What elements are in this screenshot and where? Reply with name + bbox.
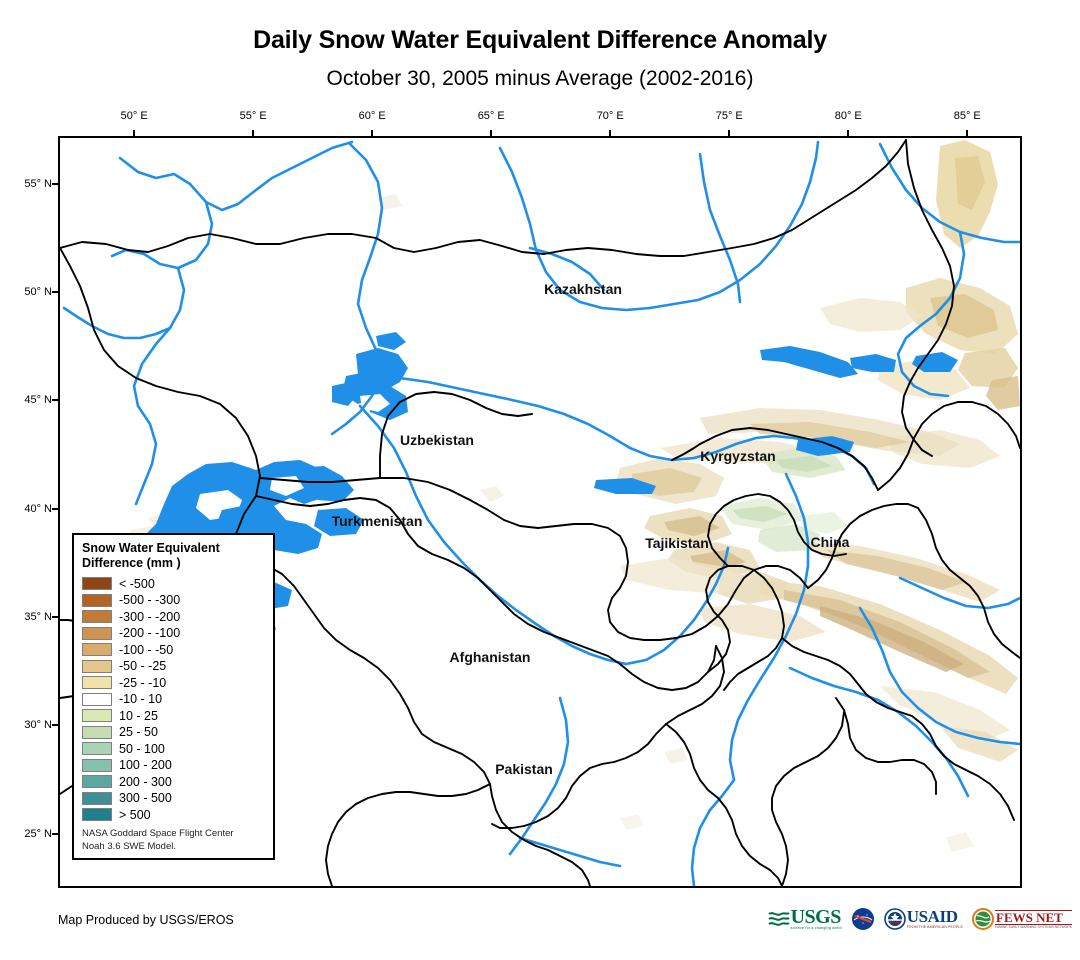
legend-swatch [82, 627, 112, 640]
longitude-label: 50° E [121, 110, 148, 122]
legend-swatch [82, 759, 112, 772]
legend-label: -25 - -10 [119, 676, 166, 690]
legend-row: 25 - 50 [82, 724, 265, 741]
fewsnet-logo[interactable]: FEWS NET FAMINE EARLY WARNING SYSTEMS NE… [972, 907, 1072, 931]
map-credit: Map Produced by USGS/EROS [58, 913, 234, 927]
legend-row: -10 - 10 [82, 691, 265, 708]
page-title: Daily Snow Water Equivalent Difference A… [0, 26, 1080, 55]
latitude-label: 25° N [18, 828, 52, 840]
longitude-tick [728, 130, 730, 136]
legend-label: 25 - 50 [119, 725, 158, 739]
legend-swatch [82, 709, 112, 722]
legend-label: 10 - 25 [119, 709, 158, 723]
legend-swatch [82, 594, 112, 607]
legend-row: -200 - -100 [82, 625, 265, 642]
legend-label: -10 - 10 [119, 692, 162, 706]
agency-logos: USGS science for a changing world USAID … [768, 906, 1072, 932]
fewsnet-globe-icon [972, 908, 994, 930]
legend-swatch [82, 577, 112, 590]
longitude-tick [133, 130, 135, 136]
legend-label: 100 - 200 [119, 758, 172, 772]
usgs-logo[interactable]: USGS science for a changing world [768, 907, 842, 931]
latitude-tick [52, 399, 59, 401]
latitude-tick [52, 616, 59, 618]
usaid-seal-icon [884, 908, 906, 930]
legend-swatch [82, 693, 112, 706]
legend-swatch [82, 775, 112, 788]
legend-swatch [82, 676, 112, 689]
legend-row: 10 - 25 [82, 708, 265, 725]
legend-swatch [82, 660, 112, 673]
latitude-label: 45° N [18, 394, 52, 406]
legend-row: -500 - -300 [82, 592, 265, 609]
latitude-tick [52, 291, 59, 293]
legend-row: -300 - -200 [82, 609, 265, 626]
legend-row: > 500 [82, 807, 265, 824]
usaid-logo[interactable]: USAID FROM THE AMERICAN PEOPLE [884, 907, 963, 931]
legend-label: 50 - 100 [119, 742, 165, 756]
longitude-tick [371, 130, 373, 136]
latitude-tick [52, 183, 59, 185]
longitude-label: 55° E [240, 110, 267, 122]
legend-swatch [82, 742, 112, 755]
legend-label: 200 - 300 [119, 775, 172, 789]
longitude-tick [966, 130, 968, 136]
legend-row: -25 - -10 [82, 675, 265, 692]
legend-source-note: NASA Goddard Space Flight Center Noah 3.… [82, 828, 265, 854]
longitude-label: 70° E [597, 110, 624, 122]
legend-row: 100 - 200 [82, 757, 265, 774]
legend-title: Snow Water Equivalent Difference (mm ) [82, 541, 265, 572]
longitude-tick [847, 130, 849, 136]
legend-row: -100 - -50 [82, 642, 265, 659]
longitude-label: 75° E [716, 110, 743, 122]
legend-label: < -500 [119, 577, 155, 591]
latitude-label: 55° N [18, 178, 52, 190]
longitude-label: 65° E [478, 110, 505, 122]
longitude-tick [609, 130, 611, 136]
fewsnet-logo-tagline: FAMINE EARLY WARNING SYSTEMS NETWORK [995, 925, 1072, 929]
legend-swatch [82, 792, 112, 805]
page-subtitle: October 30, 2005 minus Average (2002-201… [0, 67, 1080, 91]
legend-panel[interactable]: Snow Water Equivalent Difference (mm ) <… [72, 533, 275, 860]
fewsnet-logo-text: FEWS NET [995, 910, 1072, 925]
nasa-logo[interactable] [851, 907, 875, 931]
latitude-tick [52, 724, 59, 726]
longitude-tick [252, 130, 254, 136]
usaid-logo-text: USAID [907, 909, 963, 925]
usgs-logo-tagline: science for a changing world [791, 926, 842, 930]
usgs-logo-text: USGS [791, 908, 842, 926]
legend-row: 300 - 500 [82, 790, 265, 807]
legend-swatch [82, 643, 112, 656]
legend-label: -100 - -50 [119, 643, 173, 657]
usgs-wave-icon [768, 910, 790, 928]
legend-row: 50 - 100 [82, 741, 265, 758]
legend-label: -200 - -100 [119, 626, 180, 640]
usaid-logo-tagline: FROM THE AMERICAN PEOPLE [907, 925, 963, 929]
latitude-tick [52, 508, 59, 510]
latitude-label: 30° N [18, 719, 52, 731]
nasa-meatball-icon [851, 907, 875, 931]
latitude-label: 50° N [18, 286, 52, 298]
legend-label: -50 - -25 [119, 659, 166, 673]
legend-row: -50 - -25 [82, 658, 265, 675]
legend-swatch [82, 808, 112, 821]
legend-row: < -500 [82, 576, 265, 593]
legend-label: -500 - -300 [119, 593, 180, 607]
legend-label: 300 - 500 [119, 791, 172, 805]
longitude-tick [490, 130, 492, 136]
longitude-label: 85° E [954, 110, 981, 122]
longitude-label: 80° E [835, 110, 862, 122]
longitude-label: 60° E [359, 110, 386, 122]
legend-class-list: < -500-500 - -300-300 - -200-200 - -100-… [82, 576, 265, 824]
latitude-label: 35° N [18, 611, 52, 623]
legend-swatch [82, 726, 112, 739]
latitude-tick [52, 833, 59, 835]
latitude-label: 40° N [18, 503, 52, 515]
legend-label: -300 - -200 [119, 610, 180, 624]
legend-row: 200 - 300 [82, 774, 265, 791]
legend-label: > 500 [119, 808, 151, 822]
legend-swatch [82, 610, 112, 623]
title-block: Daily Snow Water Equivalent Difference A… [0, 0, 1080, 91]
